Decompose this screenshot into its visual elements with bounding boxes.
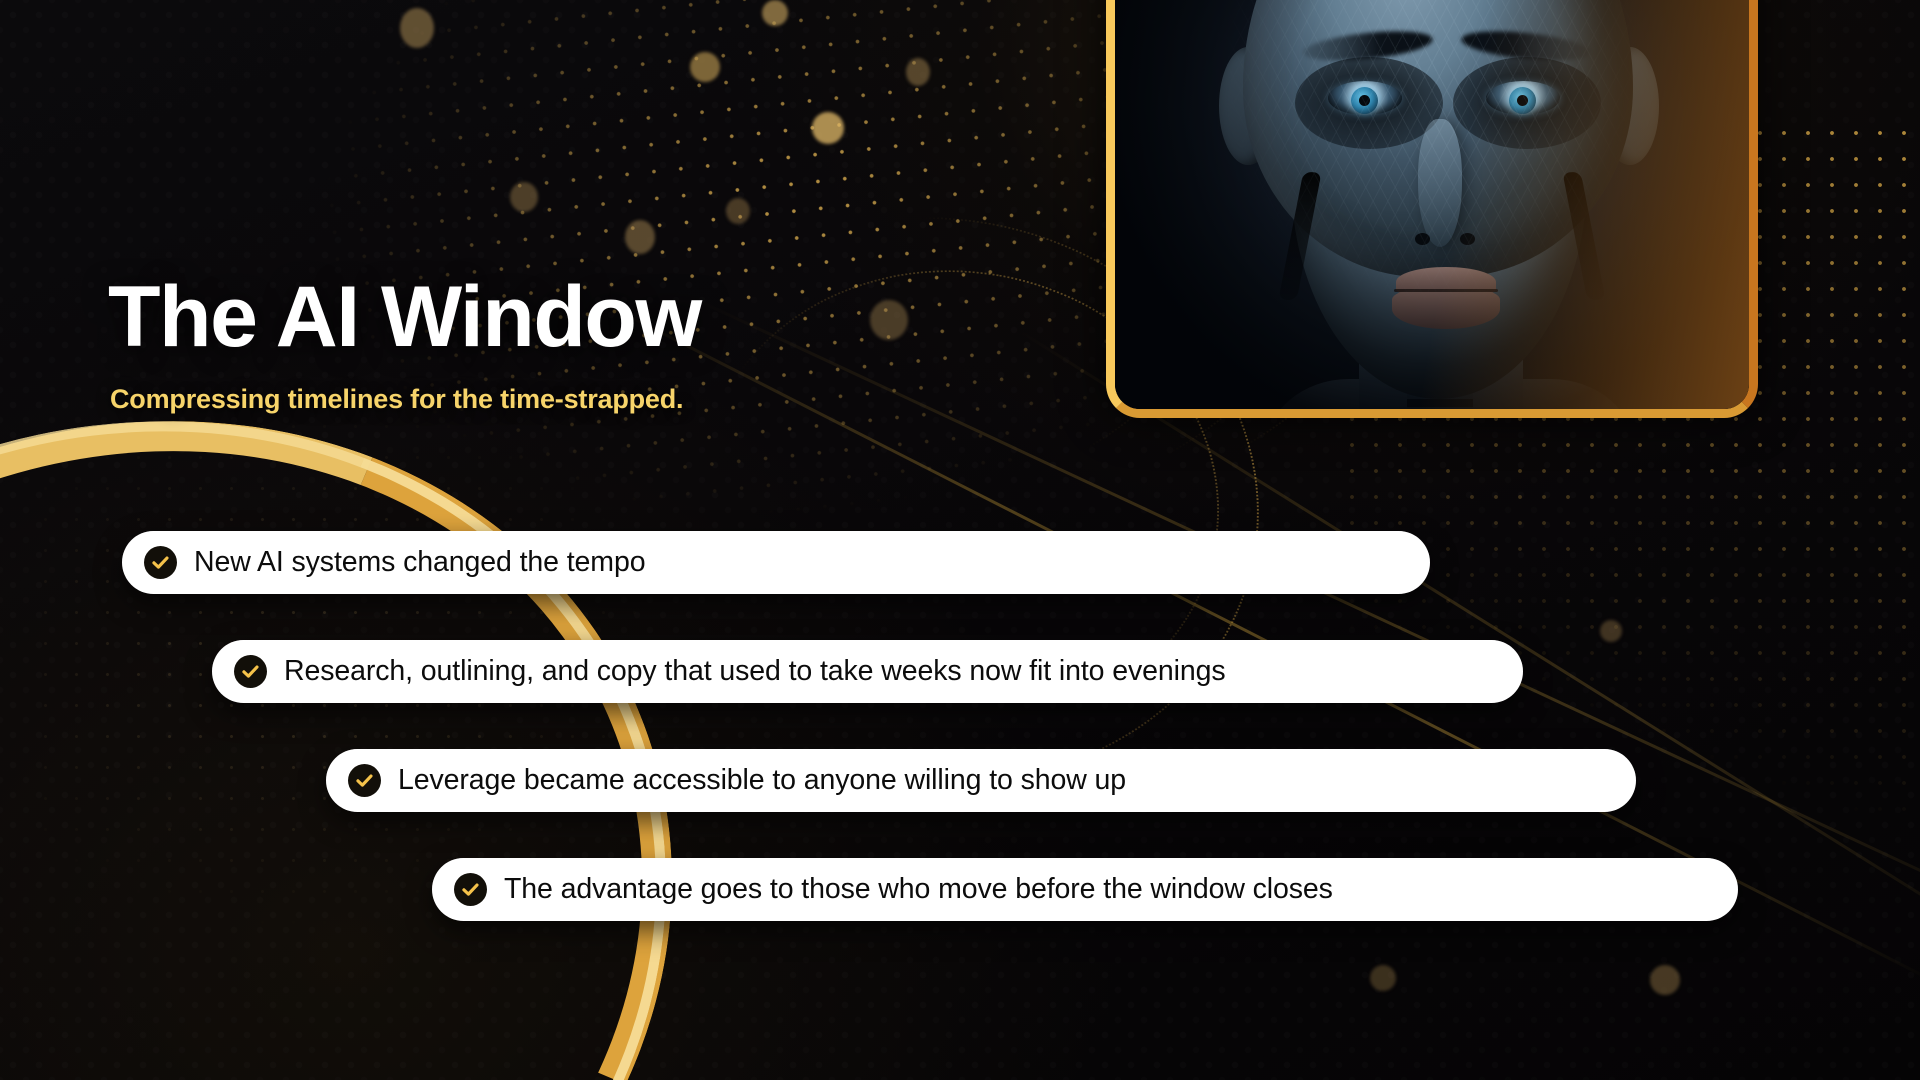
list-item[interactable]: The advantage goes to those who move bef… — [432, 858, 1738, 921]
check-circle-icon — [454, 873, 487, 906]
list-item-label: Leverage became accessible to anyone wil… — [398, 764, 1126, 797]
check-circle-icon — [348, 764, 381, 797]
list-item-label: New AI systems changed the tempo — [194, 546, 645, 579]
check-circle-icon — [144, 546, 177, 579]
list-item-label: Research, outlining, and copy that used … — [284, 655, 1226, 688]
list-item[interactable]: Research, outlining, and copy that used … — [212, 640, 1523, 703]
list-item[interactable]: New AI systems changed the tempo — [122, 531, 1430, 594]
list-item-label: The advantage goes to those who move bef… — [504, 873, 1333, 906]
bullet-list: New AI systems changed the tempo Researc… — [0, 0, 1920, 1080]
check-circle-icon — [234, 655, 267, 688]
slide-canvas: The AI Window Compressing timelines for … — [0, 0, 1920, 1080]
list-item[interactable]: Leverage became accessible to anyone wil… — [326, 749, 1636, 812]
